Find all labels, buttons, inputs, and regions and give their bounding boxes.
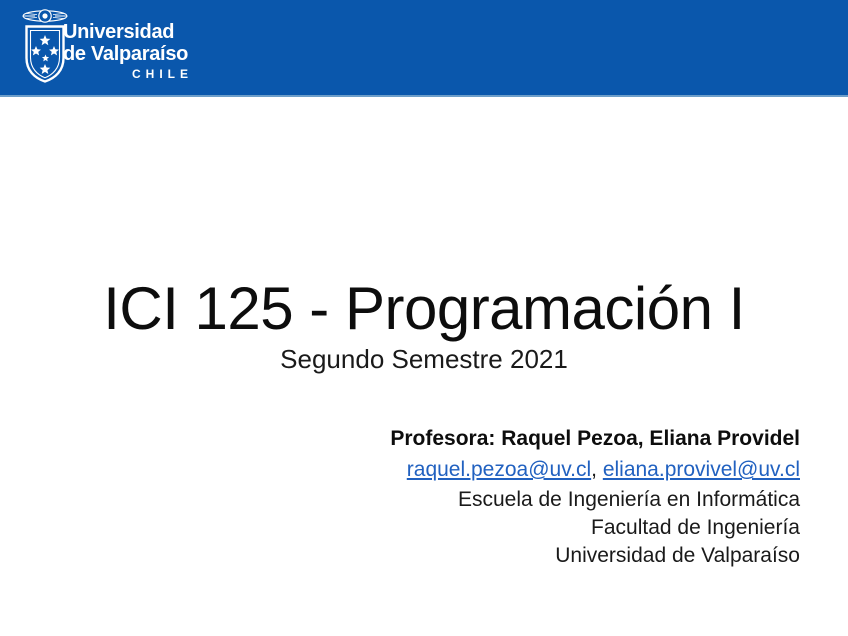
affiliation-line-school: Escuela de Ingeniería en Informática — [300, 486, 800, 514]
winged-oval-emblem-icon — [22, 6, 68, 26]
logo-wordmark: Universidad de Valparaíso — [63, 21, 195, 65]
presentation-title-slide: Universidad de Valparaíso CHILE ICI 125 … — [0, 0, 848, 636]
email-link-primary[interactable]: raquel.pezoa@uv.cl — [407, 458, 591, 481]
email-separator: , — [591, 458, 603, 481]
professor-line: Profesora: Raquel Pezoa, Eliana Providel — [300, 424, 800, 454]
header-band-bottom-edge — [0, 95, 848, 97]
affiliation-line-university: Universidad de Valparaíso — [300, 542, 800, 570]
university-logo: Universidad de Valparaíso CHILE — [20, 6, 195, 90]
credits-block: Profesora: Raquel Pezoa, Eliana Providel… — [300, 424, 800, 570]
email-link-secondary[interactable]: eliana.provivel@uv.cl — [603, 458, 800, 481]
logo-wordmark-line1: Universidad — [63, 21, 195, 43]
logo-country-label: CHILE — [63, 67, 195, 81]
page-subtitle: Segundo Semestre 2021 — [24, 344, 824, 374]
affiliation-line-faculty: Facultad de Ingeniería — [300, 514, 800, 542]
email-line: raquel.pezoa@uv.cl, eliana.provivel@uv.c… — [300, 454, 800, 486]
shield-southern-cross-icon — [24, 24, 66, 84]
page-title: ICI 125 - Programación I — [24, 278, 824, 340]
logo-wordmark-line2: de Valparaíso — [63, 43, 195, 65]
title-area: ICI 125 - Programación I Segundo Semestr… — [24, 278, 824, 374]
